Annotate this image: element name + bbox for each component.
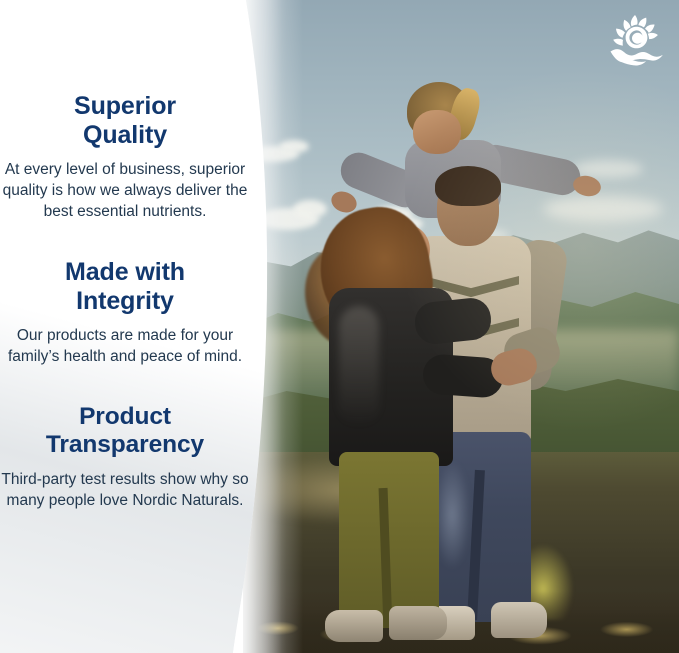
feature-heading-line2: Integrity [76, 287, 174, 315]
feature-body: At every level of business, superior qua… [0, 160, 250, 222]
child-face [413, 110, 461, 154]
family-photo [243, 0, 679, 653]
feature-heading: Made withIntegrity [0, 258, 250, 315]
woman-right-shoe [389, 606, 447, 640]
feature-body: Our products are made for your family’s … [0, 326, 250, 368]
feature-heading: SuperiorQuality [0, 92, 250, 149]
feature-heading-line2: Quality [83, 121, 167, 149]
nordic-naturals-brand-banner: SuperiorQuality At every level of busine… [0, 0, 679, 653]
man-right-shoe [491, 602, 547, 638]
nordic-naturals-sun-wave-icon [608, 14, 666, 66]
man-hair [435, 166, 501, 206]
woman-left-shoe [325, 610, 383, 642]
feature-block-product-transparency: ProductTransparency Third-party test res… [0, 403, 250, 511]
woman-jacket-sheen [339, 306, 379, 426]
cloud [279, 140, 309, 153]
feature-heading: ProductTransparency [0, 403, 250, 459]
feature-heading-line2: Transparency [46, 431, 204, 458]
feature-heading-line1: Made with [65, 258, 185, 286]
brand-logo [608, 14, 666, 66]
feature-body: Third-party test results show why so man… [0, 470, 250, 512]
feature-block-superior-quality: SuperiorQuality At every level of busine… [0, 92, 250, 222]
cloud [543, 196, 663, 222]
feature-block-made-with-integrity: Made withIntegrity Our products are made… [0, 258, 250, 368]
feature-heading-line1: Superior [74, 92, 176, 120]
panel-content: SuperiorQuality At every level of busine… [0, 0, 250, 653]
cloud [293, 200, 327, 218]
feature-heading-line1: Product [79, 403, 171, 430]
